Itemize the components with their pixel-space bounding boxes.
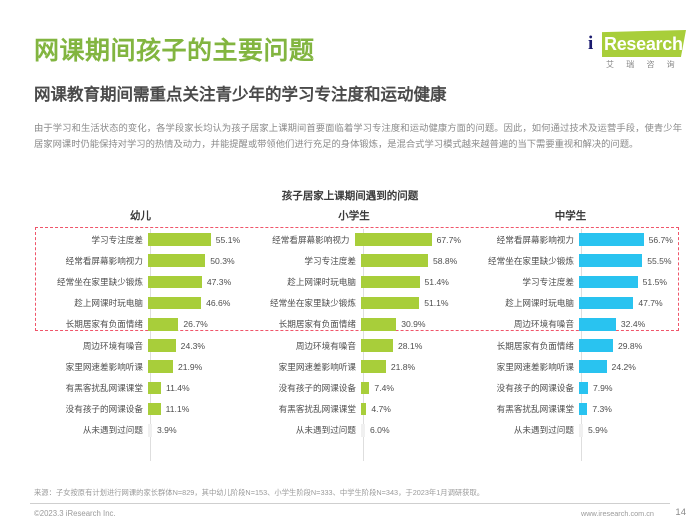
bar-secondary-1 [579,254,642,267]
bar-preschool-3 [148,297,201,310]
chart-row: 长期居家有负面情绪29.8% [463,335,675,356]
chart-panel-preschool: 学习专注度差55.1%经常看屏幕影响视力50.3%经常坐在家里缺少锻炼47.3%… [36,229,248,441]
bar-zone: 30.9% [361,314,461,335]
bar-value-label: 4.7% [371,404,391,414]
bar-secondary-0 [579,233,644,246]
bar-zone: 29.8% [579,335,675,356]
bar-primary-1 [361,254,428,267]
chart-row: 趁上网课时玩电脑51.4% [249,271,461,292]
logo-chinese-name: 艾 瑞 咨 询 [606,59,680,70]
bar-preschool-5 [148,339,176,352]
row-category-label: 周边环境有噪音 [249,340,361,352]
row-category-label: 经常坐在家里缺少锻炼 [463,255,579,267]
bar-zone: 21.8% [361,356,461,377]
bar-value-label: 26.7% [183,319,207,329]
bar-primary-4 [361,318,396,331]
bar-value-label: 50.3% [210,256,234,266]
bar-value-label: 24.2% [612,362,636,372]
row-category-label: 从未遇到过问题 [463,424,579,436]
row-category-label: 趁上网课时玩电脑 [463,297,579,309]
chart-row: 家里网速差影响听课24.2% [463,356,675,377]
chart-row: 从未遇到过问题3.9% [36,420,248,441]
chart-row: 周边环境有噪音28.1% [249,335,461,356]
row-category-label: 没有孩子的网课设备 [36,403,148,415]
row-category-label: 家里网速差影响听课 [249,361,361,373]
bar-preschool-0 [148,233,211,246]
chart-row: 长期居家有负面情绪30.9% [249,314,461,335]
chart-row: 长期居家有负面情绪26.7% [36,314,248,335]
page-subtitle: 网课教育期间需重点关注青少年的学习专注度和运动健康 [34,85,447,105]
bar-zone: 55.5% [579,250,675,271]
bar-value-label: 51.5% [643,277,667,287]
bar-zone: 5.9% [579,420,675,441]
chart-row: 家里网速差影响听课21.8% [249,356,461,377]
bar-zone: 50.3% [148,250,248,271]
bar-zone: 58.8% [361,250,461,271]
copyright-text: ©2023.3 iResearch Inc. [34,509,116,518]
bar-preschool-9 [148,424,152,437]
group-header-preschool: 幼儿 [36,208,245,223]
bar-value-label: 67.7% [437,235,461,245]
chart-row: 学习专注度差58.8% [249,250,461,271]
row-category-label: 经常看屏幕影响视力 [36,255,148,267]
bar-zone: 56.7% [579,229,675,250]
chart-row: 经常看屏幕影响视力56.7% [463,229,675,250]
bar-value-label: 6.0% [370,425,390,435]
bar-zone: 11.1% [148,399,248,420]
chart-row: 从未遇到过问题5.9% [463,420,675,441]
bar-secondary-7 [579,382,588,395]
bar-primary-9 [361,424,365,437]
bar-primary-7 [361,382,369,395]
bar-value-label: 30.9% [401,319,425,329]
bar-value-label: 51.1% [424,298,448,308]
chart-row: 从未遇到过问题6.0% [249,420,461,441]
bar-zone: 11.4% [148,377,248,398]
row-category-label: 长期居家有负面情绪 [463,340,579,352]
bar-primary-2 [361,276,420,289]
row-category-label: 家里网速差影响听课 [463,361,579,373]
chart-row: 趁上网课时玩电脑46.6% [36,293,248,314]
chart-row: 家里网速差影响听课21.9% [36,356,248,377]
bar-value-label: 46.6% [206,298,230,308]
bar-value-label: 32.4% [621,319,645,329]
row-category-label: 长期居家有负面情绪 [36,318,148,330]
bar-zone: 46.6% [148,293,248,314]
bar-value-label: 11.4% [166,383,190,393]
row-category-label: 经常坐在家里缺少锻炼 [36,276,148,288]
bar-value-label: 7.4% [374,383,394,393]
bar-value-label: 51.4% [425,277,449,287]
bar-value-label: 3.9% [157,425,177,435]
row-category-label: 经常看屏幕影响视力 [249,234,355,246]
chart-row: 有黑客扰乱网课课堂4.7% [249,399,461,420]
row-category-label: 没有孩子的网课设备 [463,382,579,394]
bar-zone: 55.1% [148,229,248,250]
chart-row: 周边环境有噪音24.3% [36,335,248,356]
chart-title: 孩子居家上课期间遇到的问题 [0,188,700,203]
bar-preschool-6 [148,360,173,373]
bar-secondary-9 [579,424,583,437]
bar-value-label: 28.1% [398,341,422,351]
bar-value-label: 7.9% [593,383,613,393]
group-header-primary: 小学生 [249,208,459,223]
bar-value-label: 11.1% [166,404,190,414]
bar-value-label: 24.3% [181,341,205,351]
bar-secondary-4 [579,318,616,331]
bar-zone: 7.4% [361,377,461,398]
bar-value-label: 47.7% [638,298,662,308]
bar-secondary-8 [579,403,587,416]
bar-zone: 47.7% [579,293,675,314]
row-category-label: 从未遇到过问题 [36,424,148,436]
chart-row: 经常坐在家里缺少锻炼47.3% [36,271,248,292]
chart-row: 经常看屏幕影响视力50.3% [36,250,248,271]
bar-value-label: 7.3% [592,404,612,414]
bar-value-label: 58.8% [433,256,457,266]
bar-zone: 47.3% [148,271,248,292]
website-url: www.iresearch.com.cn [581,509,654,518]
chart-row: 有黑客扰乱网课课堂11.4% [36,377,248,398]
bar-zone: 51.4% [361,271,461,292]
bar-preschool-8 [148,403,161,416]
bar-zone: 67.7% [355,229,461,250]
bar-zone: 26.7% [148,314,248,335]
row-category-label: 周边环境有噪音 [36,340,148,352]
row-category-label: 学习专注度差 [36,234,148,246]
bar-preschool-4 [148,318,178,331]
source-note: 来源：子女按原有计划进行网课的家长群体N=829，其中幼儿阶段N=153、小学生… [34,488,484,498]
bar-value-label: 47.3% [207,277,231,287]
row-category-label: 没有孩子的网课设备 [249,382,361,394]
bar-primary-3 [361,297,419,310]
bar-primary-6 [361,360,386,373]
bar-zone: 3.9% [148,420,248,441]
bar-zone: 7.9% [579,377,675,398]
bar-secondary-3 [579,297,633,310]
bar-preschool-1 [148,254,205,267]
chart-row: 学习专注度差55.1% [36,229,248,250]
bar-value-label: 29.8% [618,341,642,351]
chart-row: 周边环境有噪音32.4% [463,314,675,335]
bar-value-label: 55.5% [647,256,671,266]
chart-panel-primary: 经常看屏幕影响视力67.7%学习专注度差58.8%趁上网课时玩电脑51.4%经常… [249,229,461,441]
bar-primary-5 [361,339,393,352]
bar-zone: 7.3% [579,399,675,420]
chart-row: 没有孩子的网课设备7.4% [249,377,461,398]
bar-secondary-2 [579,276,638,289]
body-paragraph: 由于学习和生活状态的变化，各学段家长均认为孩子居家上课期间首要面临着学习专注度和… [34,120,682,152]
row-category-label: 经常看屏幕影响视力 [463,234,579,246]
row-category-label: 学习专注度差 [249,255,361,267]
iresearch-logo: i Research 艾 瑞 咨 询 [582,30,686,78]
chart-panel-secondary: 经常看屏幕影响视力56.7%经常坐在家里缺少锻炼55.5%学习专注度差51.5%… [463,229,675,441]
row-category-label: 有黑客扰乱网课课堂 [36,382,148,394]
bar-zone: 51.1% [361,293,461,314]
bar-preschool-7 [148,382,161,395]
footer-divider [30,503,670,504]
group-header-secondary: 中学生 [463,208,678,223]
bar-zone: 28.1% [361,335,461,356]
row-category-label: 经常坐在家里缺少锻炼 [249,297,361,309]
bar-secondary-6 [579,360,607,373]
logo-wordmark: Research [604,33,683,55]
row-category-label: 学习专注度差 [463,276,579,288]
chart-row: 没有孩子的网课设备7.9% [463,377,675,398]
row-category-label: 有黑客扰乱网课课堂 [463,403,579,415]
row-category-label: 周边环境有噪音 [463,318,579,330]
bar-primary-0 [355,233,432,246]
bar-value-label: 56.7% [649,235,673,245]
logo-i-letter-icon: i [588,33,593,55]
bar-value-label: 5.9% [588,425,608,435]
page-number: 14 [675,507,686,518]
bar-value-label: 21.9% [178,362,202,372]
chart-row: 趁上网课时玩电脑47.7% [463,293,675,314]
bar-zone: 21.9% [148,356,248,377]
slide-page: 网课期间孩子的主要问题 网课教育期间需重点关注青少年的学习专注度和运动健康 由于… [0,0,700,525]
bar-zone: 24.2% [579,356,675,377]
chart-row: 经常坐在家里缺少锻炼51.1% [249,293,461,314]
chart-row: 有黑客扰乱网课课堂7.3% [463,399,675,420]
bar-preschool-2 [148,276,202,289]
bar-zone: 51.5% [579,271,675,292]
chart-row: 没有孩子的网课设备11.1% [36,399,248,420]
row-category-label: 长期居家有负面情绪 [249,318,361,330]
bar-value-label: 55.1% [216,235,240,245]
bar-zone: 4.7% [361,399,461,420]
bar-value-label: 21.8% [391,362,415,372]
bar-zone: 6.0% [361,420,461,441]
bar-zone: 32.4% [579,314,675,335]
row-category-label: 趁上网课时玩电脑 [249,276,361,288]
page-title: 网课期间孩子的主要问题 [34,36,315,66]
chart-row: 经常坐在家里缺少锻炼55.5% [463,250,675,271]
bar-zone: 24.3% [148,335,248,356]
chart-row: 学习专注度差51.5% [463,271,675,292]
row-category-label: 从未遇到过问题 [249,424,361,436]
row-category-label: 趁上网课时玩电脑 [36,297,148,309]
row-category-label: 有黑客扰乱网课课堂 [249,403,361,415]
chart-row: 经常看屏幕影响视力67.7% [249,229,461,250]
bar-primary-8 [361,403,366,416]
row-category-label: 家里网速差影响听课 [36,361,148,373]
bar-secondary-5 [579,339,613,352]
